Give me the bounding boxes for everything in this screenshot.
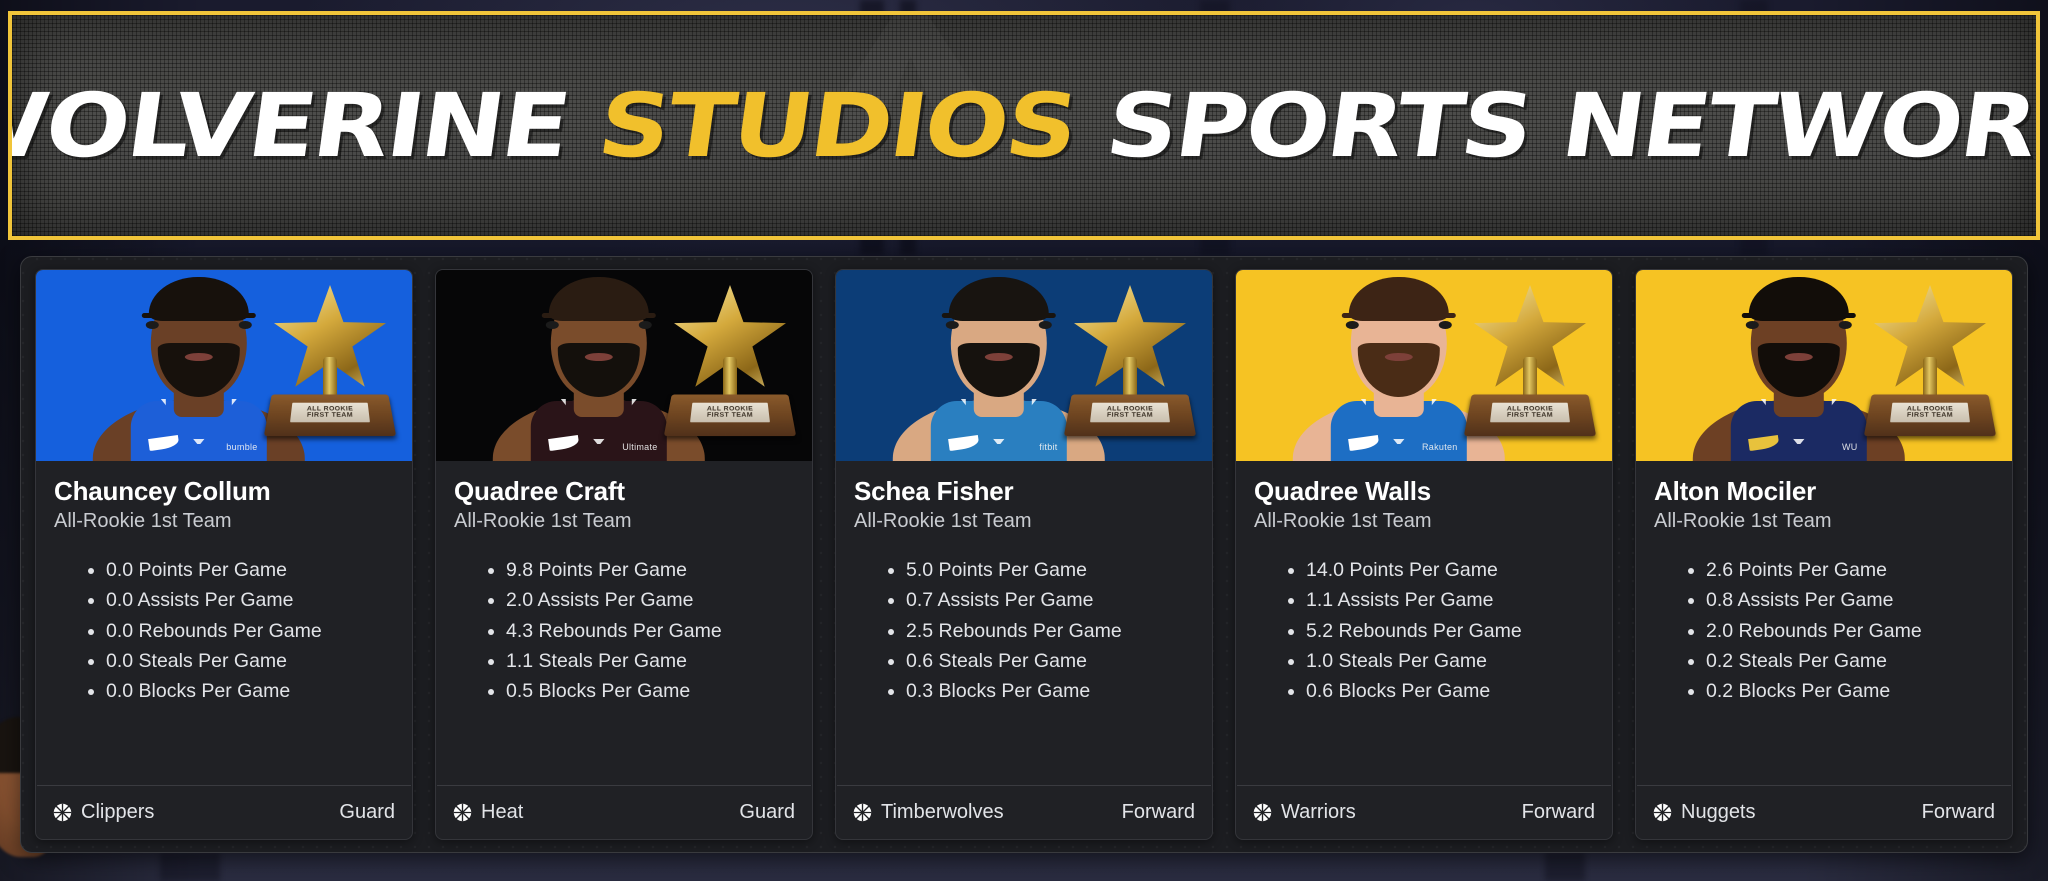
- team-name: Timberwolves: [881, 801, 1004, 824]
- player-stat-item: 14.0 Points Per Game: [1288, 555, 1594, 585]
- app-stage: WOLVERINE STUDIOS SPORTS NETWORK bumble: [0, 0, 2048, 881]
- logo-part-sports-network: SPORTS NETWORK: [1068, 74, 2040, 177]
- trophy-plate-line-2: FIRST TEAM: [1507, 412, 1554, 419]
- player-stat-item: 1.1 Assists Per Game: [1288, 585, 1594, 615]
- player-mouth: [1385, 353, 1413, 361]
- trophy-base: ALL ROOKIE FIRST TEAM: [264, 395, 396, 437]
- player-mouth: [585, 353, 613, 361]
- player-eye-left: [1746, 321, 1759, 329]
- player-hair: [949, 277, 1049, 321]
- basketball-icon: [53, 803, 72, 822]
- player-position: Forward: [1522, 801, 1595, 824]
- player-stat-item: 2.0 Assists Per Game: [488, 585, 794, 615]
- team-name: Heat: [481, 801, 523, 824]
- trophy-base: ALL ROOKIE FIRST TEAM: [1864, 395, 1996, 437]
- all-rookie-trophy-icon: ALL ROOKIE FIRST TEAM: [262, 285, 398, 445]
- player-stat-list: 0.0 Points Per Game0.0 Assists Per Game0…: [88, 555, 394, 706]
- player-eye-left: [946, 321, 959, 329]
- player-stat-list: 14.0 Points Per Game1.1 Assists Per Game…: [1288, 555, 1594, 706]
- all-rookie-trophy-icon: ALL ROOKIE FIRST TEAM: [1862, 285, 1998, 445]
- player-card-body: Quadree Walls All-Rookie 1st Team 14.0 P…: [1236, 461, 1612, 785]
- player-eye-right: [1439, 321, 1452, 329]
- player-award-card-5[interactable]: WU ALL ROOKIE FIRST TEAM Alton Mociler A…: [1635, 269, 2013, 840]
- player-stat-item: 0.3 Blocks Per Game: [888, 676, 1194, 706]
- trophy-base: ALL ROOKIE FIRST TEAM: [664, 395, 796, 437]
- player-stat-item: 0.7 Assists Per Game: [888, 585, 1194, 615]
- team-info[interactable]: Warriors: [1253, 801, 1356, 824]
- player-eye-left: [546, 321, 559, 329]
- player-stat-item: 0.0 Points Per Game: [88, 555, 394, 585]
- player-stat-item: 0.0 Steals Per Game: [88, 646, 394, 676]
- player-stat-item: 0.0 Assists Per Game: [88, 585, 394, 615]
- all-rookie-team-card-rail: bumble ALL ROOKIE FIRST TEAM Chauncey Co…: [20, 256, 2028, 853]
- player-stat-item: 0.6 Steals Per Game: [888, 646, 1194, 676]
- player-position: Guard: [739, 801, 795, 824]
- trophy-plate-line-2: FIRST TEAM: [307, 412, 354, 419]
- player-stat-item: 5.2 Rebounds Per Game: [1288, 616, 1594, 646]
- team-info[interactable]: Clippers: [53, 801, 154, 824]
- player-award-label: All-Rookie 1st Team: [1254, 509, 1594, 533]
- player-position: Guard: [339, 801, 395, 824]
- player-stat-item: 1.0 Steals Per Game: [1288, 646, 1594, 676]
- trophy-plate: ALL ROOKIE FIRST TEAM: [690, 403, 770, 423]
- player-portrait: bumble ALL ROOKIE FIRST TEAM: [36, 270, 412, 461]
- player-stat-item: 4.3 Rebounds Per Game: [488, 616, 794, 646]
- player-card-footer: Heat Guard: [437, 785, 811, 839]
- player-award-label: All-Rookie 1st Team: [54, 509, 394, 533]
- team-info[interactable]: Nuggets: [1653, 801, 1756, 824]
- jersey-sponsor-label: Rakuten: [1422, 442, 1458, 452]
- player-stat-item: 1.1 Steals Per Game: [488, 646, 794, 676]
- player-stat-item: 0.6 Blocks Per Game: [1288, 676, 1594, 706]
- player-mouth: [985, 353, 1013, 361]
- player-stat-list: 2.6 Points Per Game0.8 Assists Per Game2…: [1688, 555, 1994, 706]
- jersey-sponsor-label: WU: [1842, 442, 1858, 452]
- logo-part-studios: STUDIOS: [592, 74, 1082, 177]
- player-eye-right: [639, 321, 652, 329]
- jersey-sponsor-label: fitbit: [1039, 442, 1057, 452]
- backdrop-pillar: [1545, 852, 1585, 881]
- player-position: Forward: [1922, 801, 1995, 824]
- all-rookie-trophy-icon: ALL ROOKIE FIRST TEAM: [1062, 285, 1198, 445]
- player-card-body: Schea Fisher All-Rookie 1st Team 5.0 Poi…: [836, 461, 1212, 785]
- player-card-footer: Clippers Guard: [37, 785, 411, 839]
- trophy-plate: ALL ROOKIE FIRST TEAM: [290, 403, 370, 423]
- player-card-footer: Timberwolves Forward: [837, 785, 1211, 839]
- player-position: Forward: [1122, 801, 1195, 824]
- network-marquee-banner: WOLVERINE STUDIOS SPORTS NETWORK: [8, 11, 2040, 240]
- player-stat-item: 9.8 Points Per Game: [488, 555, 794, 585]
- player-card-body: Chauncey Collum All-Rookie 1st Team 0.0 …: [36, 461, 412, 785]
- player-name: Chauncey Collum: [54, 477, 394, 506]
- player-award-label: All-Rookie 1st Team: [854, 509, 1194, 533]
- player-stat-item: 0.0 Blocks Per Game: [88, 676, 394, 706]
- player-portrait: Rakuten ALL ROOKIE FIRST TEAM: [1236, 270, 1612, 461]
- player-stat-item: 0.2 Blocks Per Game: [1688, 676, 1994, 706]
- player-stat-item: 2.0 Rebounds Per Game: [1688, 616, 1994, 646]
- player-portrait: WU ALL ROOKIE FIRST TEAM: [1636, 270, 2012, 461]
- player-award-card-3[interactable]: fitbit ALL ROOKIE FIRST TEAM Schea Fishe…: [835, 269, 1213, 840]
- trophy-plate: ALL ROOKIE FIRST TEAM: [1890, 403, 1970, 423]
- player-eye-right: [1039, 321, 1052, 329]
- trophy-plate: ALL ROOKIE FIRST TEAM: [1090, 403, 1170, 423]
- player-card-footer: Warriors Forward: [1237, 785, 1611, 839]
- player-stat-item: 0.8 Assists Per Game: [1688, 585, 1994, 615]
- basketball-icon: [1253, 803, 1272, 822]
- player-name: Alton Mociler: [1654, 477, 1994, 506]
- player-stat-list: 5.0 Points Per Game0.7 Assists Per Game2…: [888, 555, 1194, 706]
- jersey-sponsor-label: bumble: [226, 442, 257, 452]
- all-rookie-trophy-icon: ALL ROOKIE FIRST TEAM: [1462, 285, 1598, 445]
- player-eye-right: [239, 321, 252, 329]
- player-name: Quadree Walls: [1254, 477, 1594, 506]
- player-award-label: All-Rookie 1st Team: [1654, 509, 1994, 533]
- player-stat-item: 2.5 Rebounds Per Game: [888, 616, 1194, 646]
- player-eye-left: [146, 321, 159, 329]
- player-name: Quadree Craft: [454, 477, 794, 506]
- basketball-icon: [1653, 803, 1672, 822]
- player-hair: [549, 277, 649, 321]
- player-eye-left: [1346, 321, 1359, 329]
- trophy-plate: ALL ROOKIE FIRST TEAM: [1490, 403, 1570, 423]
- backdrop-pillar: [160, 852, 220, 881]
- player-portrait: Ultimate ALL ROOKIE FIRST TEAM: [436, 270, 812, 461]
- player-name: Schea Fisher: [854, 477, 1194, 506]
- logo-part-wolverine: WOLVERINE: [8, 74, 606, 177]
- player-stat-item: 0.5 Blocks Per Game: [488, 676, 794, 706]
- trophy-plate-line-2: FIRST TEAM: [1907, 412, 1954, 419]
- jersey-sponsor-label: Ultimate: [622, 442, 657, 452]
- player-award-card-4[interactable]: Rakuten ALL ROOKIE FIRST TEAM Quadree Wa…: [1235, 269, 1613, 840]
- basketball-icon: [453, 803, 472, 822]
- all-rookie-trophy-icon: ALL ROOKIE FIRST TEAM: [662, 285, 798, 445]
- team-name: Nuggets: [1681, 801, 1756, 824]
- player-hair: [1749, 277, 1849, 321]
- player-stat-item: 5.0 Points Per Game: [888, 555, 1194, 585]
- trophy-plate-line-2: FIRST TEAM: [707, 412, 754, 419]
- player-eye-right: [1839, 321, 1852, 329]
- player-stat-list: 9.8 Points Per Game2.0 Assists Per Game4…: [488, 555, 794, 706]
- player-hair: [1349, 277, 1449, 321]
- player-portrait: fitbit ALL ROOKIE FIRST TEAM: [836, 270, 1212, 461]
- team-info[interactable]: Timberwolves: [853, 801, 1004, 824]
- player-card-body: Alton Mociler All-Rookie 1st Team 2.6 Po…: [1636, 461, 2012, 785]
- player-stat-item: 2.6 Points Per Game: [1688, 555, 1994, 585]
- network-logo-text: WOLVERINE STUDIOS SPORTS NETWORK: [8, 82, 2040, 170]
- trophy-base: ALL ROOKIE FIRST TEAM: [1064, 395, 1196, 437]
- basketball-icon: [853, 803, 872, 822]
- trophy-plate-line-2: FIRST TEAM: [1107, 412, 1154, 419]
- player-mouth: [1785, 353, 1813, 361]
- team-info[interactable]: Heat: [453, 801, 523, 824]
- player-award-card-2[interactable]: Ultimate ALL ROOKIE FIRST TEAM Quadree C…: [435, 269, 813, 840]
- player-mouth: [185, 353, 213, 361]
- player-hair: [149, 277, 249, 321]
- player-card-body: Quadree Craft All-Rookie 1st Team 9.8 Po…: [436, 461, 812, 785]
- player-stat-item: 0.0 Rebounds Per Game: [88, 616, 394, 646]
- player-stat-item: 0.2 Steals Per Game: [1688, 646, 1994, 676]
- player-award-card-1[interactable]: bumble ALL ROOKIE FIRST TEAM Chauncey Co…: [35, 269, 413, 840]
- trophy-base: ALL ROOKIE FIRST TEAM: [1464, 395, 1596, 437]
- player-award-label: All-Rookie 1st Team: [454, 509, 794, 533]
- team-name: Warriors: [1281, 801, 1356, 824]
- team-name: Clippers: [81, 801, 154, 824]
- player-card-footer: Nuggets Forward: [1637, 785, 2011, 839]
